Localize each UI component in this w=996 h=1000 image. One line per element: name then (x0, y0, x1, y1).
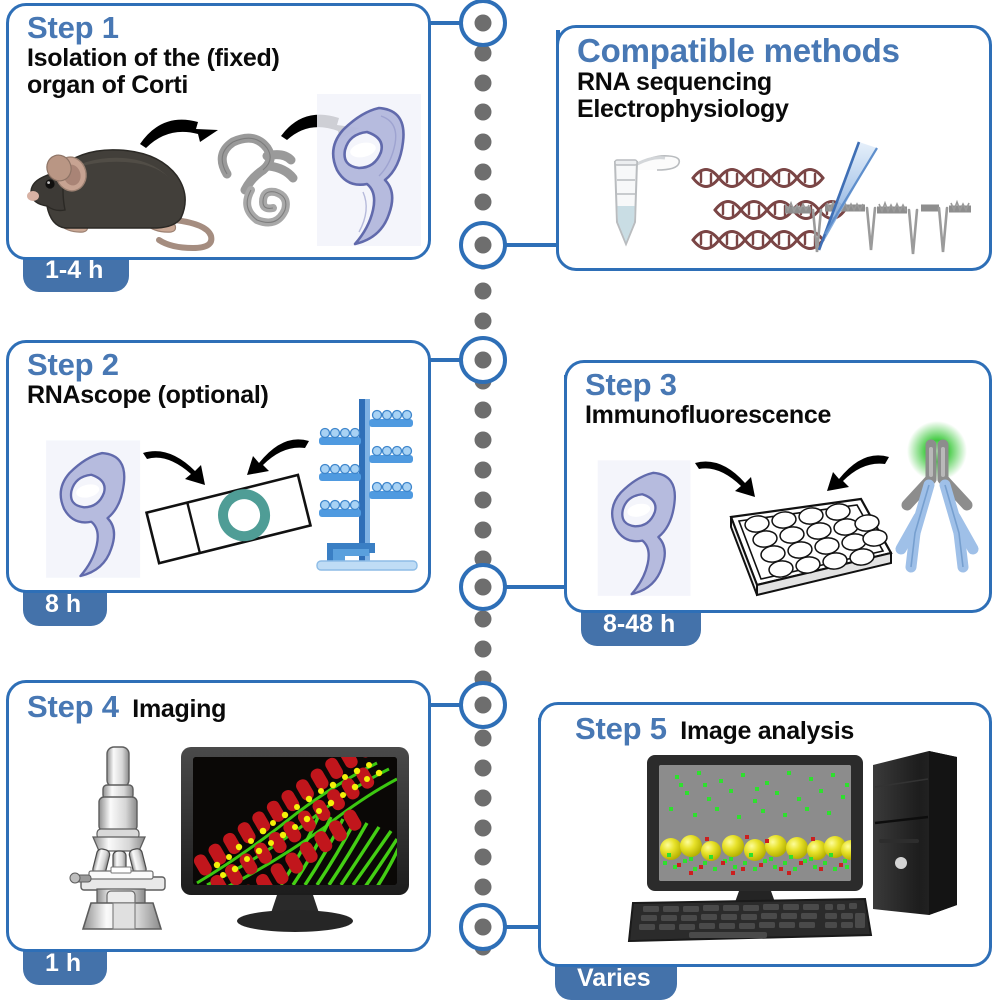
timeline-node-5[interactable] (459, 681, 507, 729)
step-label: Compatible methods (577, 34, 979, 68)
card-step-4[interactable]: Step 4 Imaging (6, 680, 431, 952)
timeline-node-3[interactable] (459, 336, 507, 384)
step-label: Step 4 (27, 689, 119, 724)
step-label: Step 1 (27, 12, 418, 44)
card-compatible-heading: Compatible methods RNA sequencing Electr… (577, 34, 979, 122)
timeline-node-1[interactable] (459, 0, 507, 47)
timeline-dot (475, 521, 492, 538)
antibody-illustration (885, 421, 989, 593)
step-title: Image analysis (680, 717, 854, 745)
desktop-tower-illustration (867, 747, 963, 917)
timeline-dot (475, 730, 492, 747)
timeline-dot (475, 849, 492, 866)
timeline-dot (475, 789, 492, 806)
timeline-dot (475, 74, 492, 91)
timeline-dot (475, 313, 492, 330)
timeline-dot (475, 879, 492, 896)
timeline-dot (475, 640, 492, 657)
card-step-4-heading: Step 4 Imaging (27, 691, 418, 723)
timeline-dot (475, 283, 492, 300)
timeline-dot (475, 819, 492, 836)
step-label: Step 5 (575, 711, 667, 746)
method-line-2: Electrophysiology (577, 96, 979, 123)
electrophysiology-trace-illustration (781, 158, 976, 258)
well-plate-illustration (695, 491, 895, 603)
method-line-1: RNA sequencing (577, 69, 979, 96)
timeline-node-6[interactable] (459, 903, 507, 951)
cochlea-wholemount-illustration (585, 455, 705, 603)
timeline-dot (475, 760, 492, 777)
timeline-dot (475, 164, 492, 181)
card-step-1-heading: Step 1 Isolation of the (fixed) organ of… (27, 12, 418, 98)
step-title: Imaging (132, 695, 226, 723)
card-step-3[interactable]: Step 3 Immunofluorescence (564, 360, 992, 613)
timeline-dot (475, 432, 492, 449)
card-step-5-heading: Step 5 Image analysis (575, 713, 979, 745)
timeline-node-2[interactable] (459, 221, 507, 269)
microscope-illustration (67, 741, 183, 931)
timeline-dot (475, 402, 492, 419)
timeline-node-4[interactable] (459, 563, 507, 611)
card-step-2[interactable]: Step 2 RNAscope (optional) (6, 340, 431, 593)
monitor-confocal-illustration (177, 743, 413, 933)
step-title-line-1: Isolation of the (fixed) (27, 45, 418, 72)
keyboard-illustration (627, 897, 873, 947)
arrow-icon (235, 433, 313, 479)
timeline-dot (475, 193, 492, 210)
step-label: Step 2 (27, 349, 418, 381)
card-step-1[interactable]: Step 1 Isolation of the (fixed) organ of… (6, 3, 431, 260)
cochlea-wholemount-illustration (311, 88, 429, 254)
microscope-slide-illustration (145, 471, 313, 571)
step-label: Step 3 (585, 369, 979, 401)
timeline-dot (475, 462, 492, 479)
cochlea-wholemount-illustration (33, 435, 155, 585)
card-step-5[interactable]: Step 5 Image analysis (538, 702, 992, 967)
monitor-analysis-illustration (645, 753, 865, 903)
slide-rack-illustration (305, 393, 429, 583)
timeline-dot (475, 491, 492, 508)
timeline-dot (475, 611, 492, 628)
card-step-3-heading: Step 3 Immunofluorescence (585, 369, 979, 429)
timeline-dot (475, 104, 492, 121)
timeline-dot (475, 134, 492, 151)
arrow-icon (813, 449, 893, 495)
card-compatible-methods[interactable]: Compatible methods RNA sequencing Electr… (556, 25, 992, 271)
